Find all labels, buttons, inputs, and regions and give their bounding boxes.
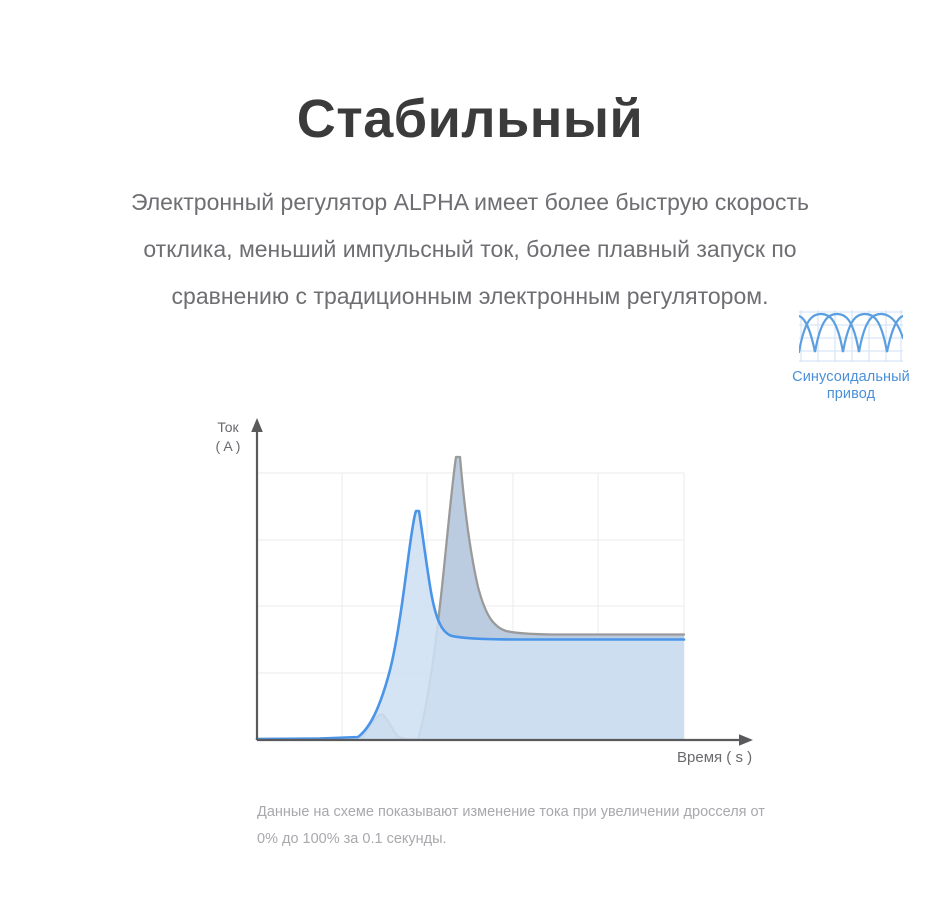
y-axis-label: Ток ( A )	[202, 418, 254, 456]
current-vs-time-chart: Ток ( A )	[190, 412, 890, 772]
chart-footnote-line-2: 0% до 100% за 0.1 секунды.	[257, 826, 917, 853]
sine-drive-caption: Синусоидальный привод	[776, 369, 926, 403]
chart-plot-area	[190, 412, 890, 762]
page-title: Стабильный	[0, 88, 940, 150]
sine-drive-badge: Синусоидальный привод	[776, 308, 926, 403]
sine-drive-caption-line-1: Синусоидальный	[792, 369, 910, 385]
sine-wave-icon	[799, 308, 903, 364]
y-axis-label-line-1: Ток	[202, 418, 254, 437]
x-axis-label: Время ( s )	[677, 749, 752, 766]
intro-line-1: Электронный регулятор ALPHA имеет более …	[45, 179, 895, 226]
chart-footnote-line-1: Данные на схеме показывают изменение ток…	[257, 799, 917, 826]
intro-line-2: отклика, меньший импульсный ток, более п…	[45, 226, 895, 273]
intro-line-3: сравнению с традиционным электронным рег…	[45, 273, 895, 320]
intro-paragraph: Электронный регулятор ALPHA имеет более …	[45, 179, 895, 320]
y-axis-label-line-2: ( A )	[202, 437, 254, 456]
sine-drive-caption-line-2: привод	[827, 386, 875, 402]
product-feature-slide: Стабильный Электронный регулятор ALPHA и…	[0, 0, 940, 908]
chart-footnote: Данные на схеме показывают изменение ток…	[257, 799, 917, 853]
